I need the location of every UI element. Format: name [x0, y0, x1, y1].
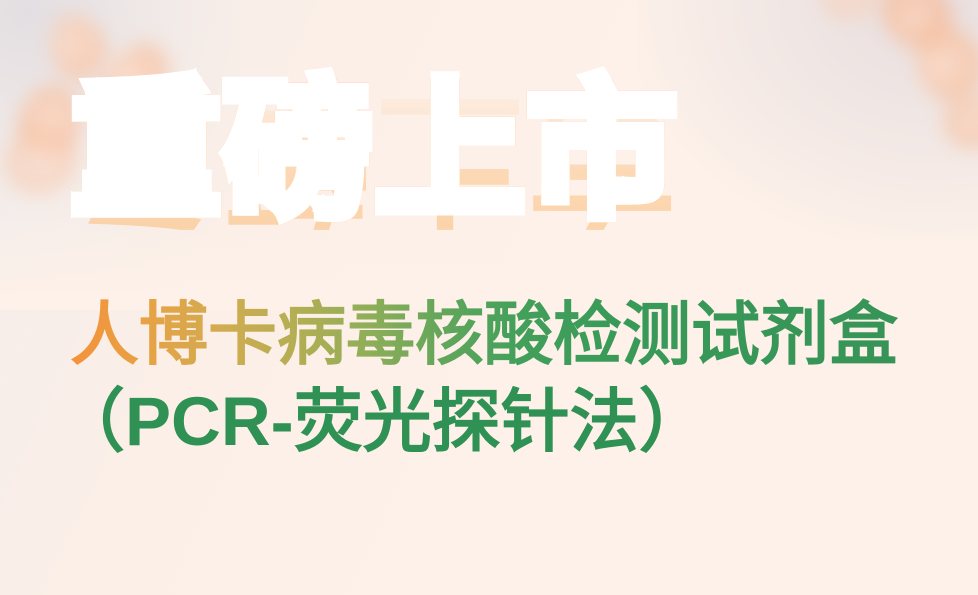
headline-title: 重磅上市: [72, 78, 680, 226]
product-name: 人博卡病毒核酸检测试剂盒: [70, 296, 898, 373]
headline-group: 重磅上市 重磅上市: [0, 78, 978, 308]
product-method: （PCR-荧光探针法）: [56, 383, 708, 460]
promo-banner: 重磅上市 重磅上市 人博卡病毒核酸检测试剂盒 （PCR-荧光探针法）: [0, 0, 978, 595]
